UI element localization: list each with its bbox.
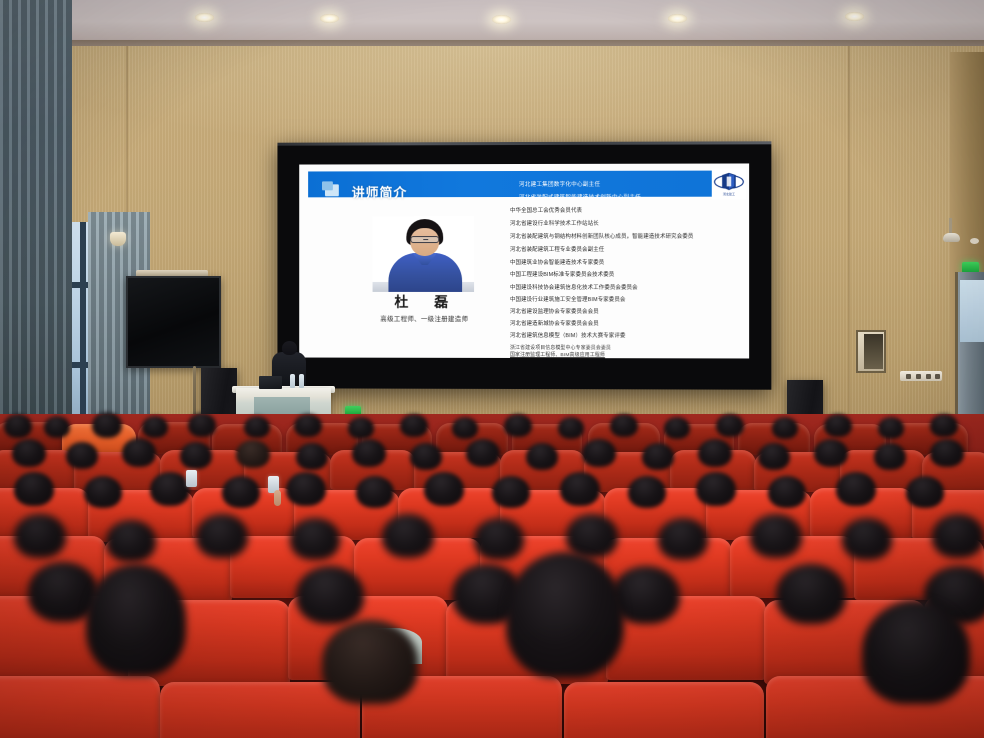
- credential-line: 河北省建筑信息模型（BIM）技术大赛专家评委: [510, 331, 626, 339]
- credential-line: 河北省建设监理协会专家委员会会员: [510, 307, 599, 315]
- audience-area: [0, 414, 984, 738]
- credential-line: 河北省装配建筑与钢结构材料创新团队核心成员，智能建造技术研究会委员: [510, 232, 693, 240]
- presenter-name: 杜 磊: [373, 292, 476, 312]
- downlight-icon: [492, 15, 511, 24]
- presentation-slide: 讲师简介 河北建工集团数字化中心副主任 河北省装配式建筑智能建造技术创新中心副主…: [299, 163, 749, 358]
- slide-title: 讲师简介: [352, 182, 408, 201]
- water-bottle-icon: [290, 374, 295, 388]
- camera-pole: [949, 218, 952, 234]
- credential-line: 河北省建设行业科学技术工作站站长: [510, 219, 599, 227]
- wall-seam: [848, 46, 850, 466]
- tv-cable: [193, 366, 196, 418]
- credential-line: 河北省装配建筑工程专业委员会副主任: [510, 245, 604, 253]
- svg-text:河北建工: 河北建工: [723, 191, 735, 196]
- wall-lamp-icon: [110, 232, 126, 246]
- downlight-icon: [845, 12, 864, 21]
- slide-marker-icon: [325, 184, 339, 196]
- credential-line: 河北省建造新城协会专家委员会会员: [510, 319, 599, 327]
- projection-screen: 讲师简介 河北建工集团数字化中心副主任 河北省装配式建筑智能建造技术创新中心副主…: [277, 141, 771, 389]
- door-window: [960, 280, 984, 342]
- security-camera-icon: [943, 233, 960, 242]
- slide-header-bar: 讲师简介 河北建工集团数字化中心副主任 河北省装配式建筑智能建造技术创新中心副主…: [308, 171, 712, 198]
- laptop-icon: [259, 376, 282, 389]
- wall-mounted-display: [126, 276, 221, 368]
- auditorium-photo: 讲师简介 河北建工集团数字化中心副主任 河北省装配式建筑智能建造技术创新中心副主…: [0, 0, 984, 738]
- credential-line: 国家注册监理工程师、BIM高级应用工程师: [510, 351, 605, 358]
- company-logo: 河北建工: [712, 168, 746, 199]
- water-bottle-icon: [299, 374, 304, 388]
- credential-line: 中国建设科技协会建筑信息化技术工作委员会委员会: [510, 283, 638, 291]
- slide-header-line-2: 河北省装配式建筑智能建造技术创新中心副主任: [519, 193, 641, 201]
- slide-header-line-1: 河北建工集团数字化中心副主任: [519, 180, 600, 188]
- smoke-detector-icon: [970, 238, 979, 244]
- wall-panel-interior: [864, 334, 883, 369]
- presenter-photo: [373, 216, 475, 292]
- logo-mark-icon: 河北建工: [714, 171, 744, 198]
- downlight-icon: [668, 14, 687, 23]
- credential-line: 中国建设行业建筑施工安全管理BIM专家委员会: [510, 295, 626, 303]
- presenter-subtitle: 高级工程师、一级注册建造师: [359, 313, 490, 323]
- phone-icon: [186, 470, 197, 487]
- presenter-head: [282, 341, 297, 355]
- glasses-icon: [410, 236, 439, 243]
- credential-line: 中国工程建设BIM标准专家委员会技术委员: [510, 270, 614, 278]
- curtain-left: [0, 0, 72, 430]
- downlight-icon: [320, 14, 339, 23]
- downlight-icon: [195, 13, 214, 22]
- credential-line: 中国建筑业协会智能建造技术专家委员: [510, 258, 604, 266]
- credential-line: 中华全国总工会优秀会员代表: [510, 206, 582, 214]
